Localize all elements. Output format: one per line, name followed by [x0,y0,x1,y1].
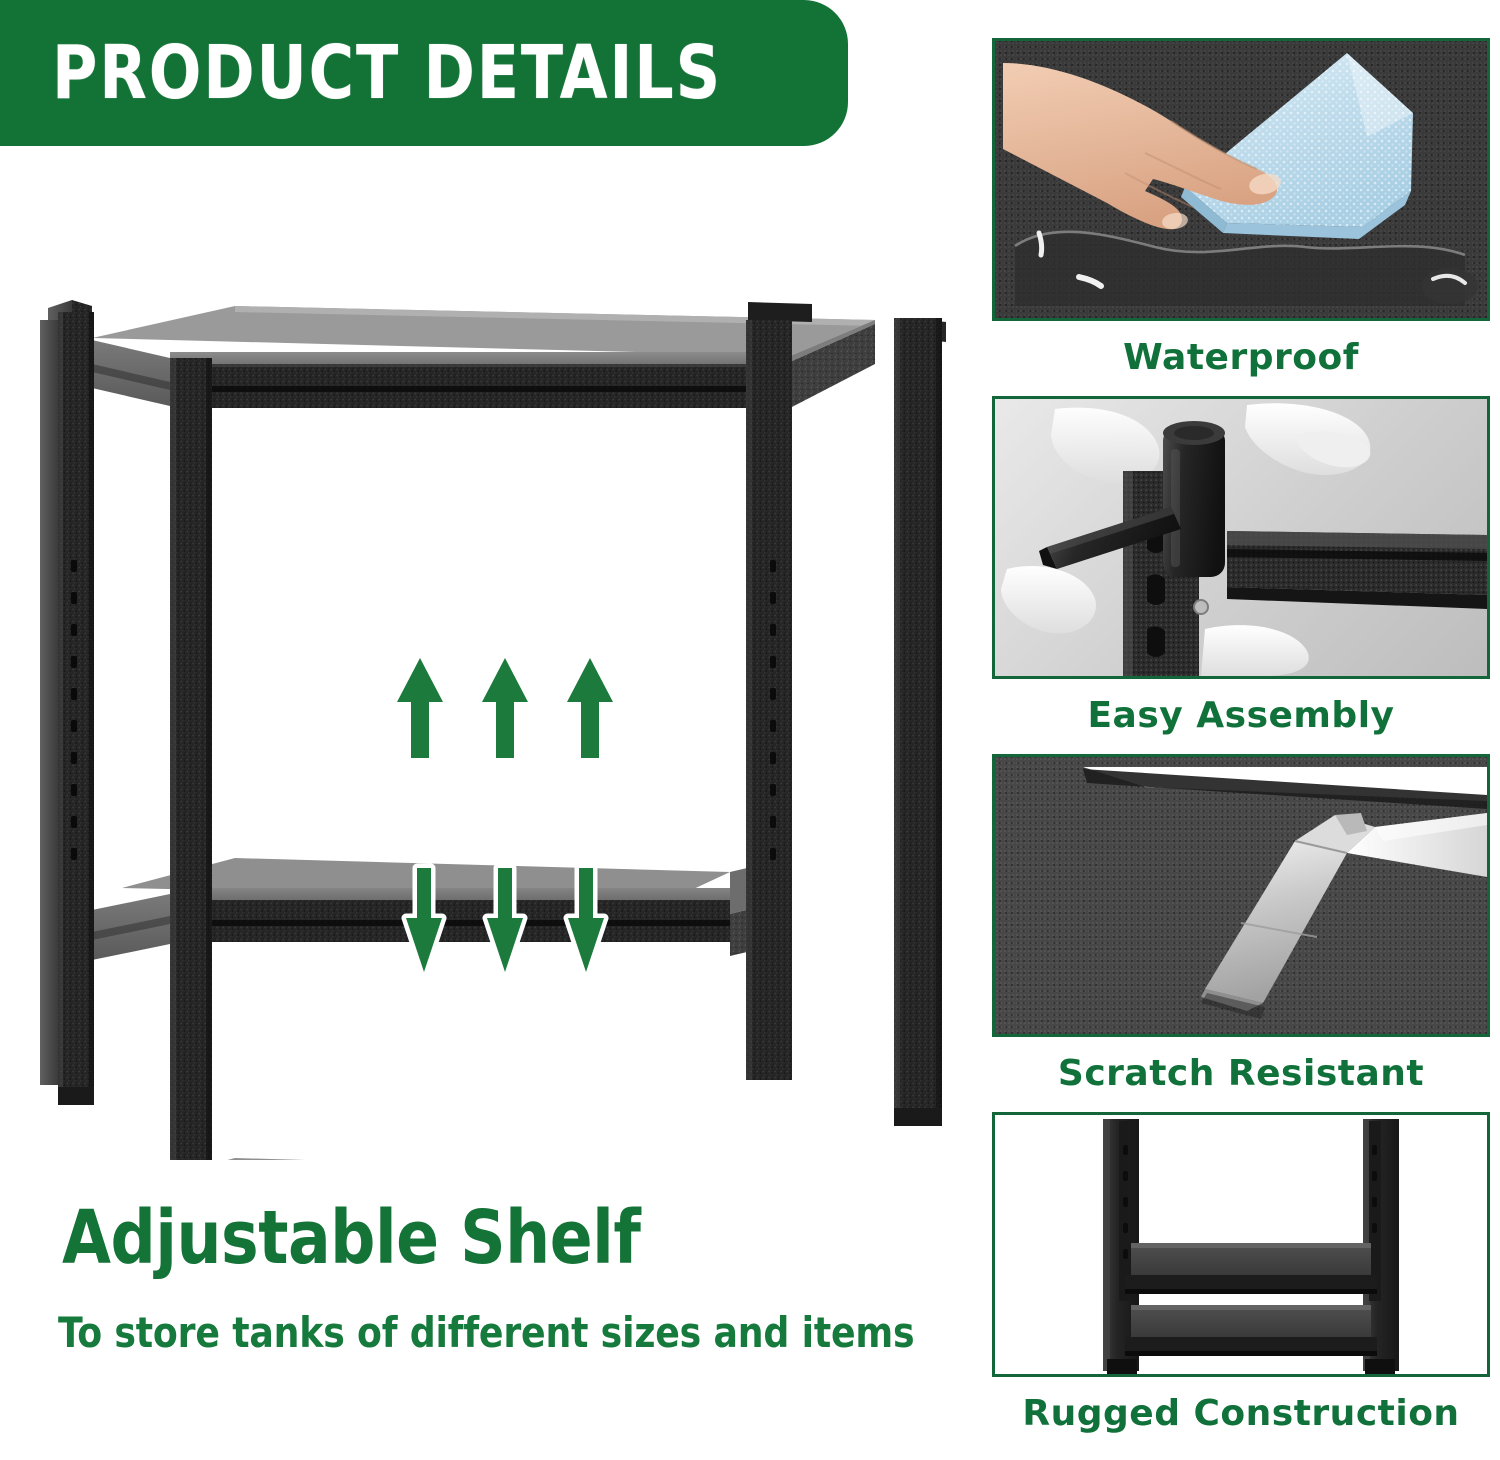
page-title: PRODUCT DETAILS [52,30,722,116]
shelf-post-front-middle [170,358,212,1160]
hero-heading: Adjustable Shelf [62,1195,640,1281]
shelf-foot-front-left [58,1087,94,1105]
waterproof-scene [995,41,1487,318]
hand-wiping-cloth-icon [995,41,1487,318]
shelf-up-arrows [390,650,620,765]
feature-card-waterproof: Waterproof [992,38,1490,378]
feature-panel-column: Waterproof [992,0,1500,1460]
feature-card-easy-assembly: Easy Assembly [992,396,1490,736]
utility-knife-icon [995,757,1487,1034]
hero-subtitle: To store tanks of different sizes and it… [58,1308,914,1357]
scratch-resistant-scene [995,757,1487,1034]
shelf-post-rear-right [746,320,792,1080]
feature-label-waterproof: Waterproof [992,337,1490,378]
hero-section: Adjustable Shelf To store tanks of diffe… [0,150,965,1210]
post-slot-holes [1147,522,1165,657]
feature-label-scratch-resistant: Scratch Resistant [992,1053,1490,1094]
product-details-banner: PRODUCT DETAILS [0,0,848,146]
shelf-frame-icon [995,1115,1487,1374]
product-image-adjustable-shelf [30,260,960,1160]
knife-blade [1201,813,1487,1011]
shelf-down-arrows [398,860,613,980]
feature-image-waterproof [992,38,1490,321]
mallet-icon [995,399,1487,676]
screw [1194,600,1208,614]
glove-lower-left [1001,566,1096,634]
rugged-construction-scene [995,1115,1487,1374]
feature-card-rugged-construction: Rugged Construction [992,1112,1490,1434]
feature-label-rugged-construction: Rugged Construction [992,1393,1490,1434]
shelf-post-front-right [894,318,942,1126]
feature-card-scratch-resistant: Scratch Resistant [992,754,1490,1094]
feature-label-easy-assembly: Easy Assembly [992,695,1490,736]
easy-assembly-scene [995,399,1487,676]
feature-image-rugged-construction [992,1112,1490,1377]
water-puddle [1015,232,1465,306]
feature-image-easy-assembly [992,396,1490,679]
feature-image-scratch-resistant [992,754,1490,1037]
